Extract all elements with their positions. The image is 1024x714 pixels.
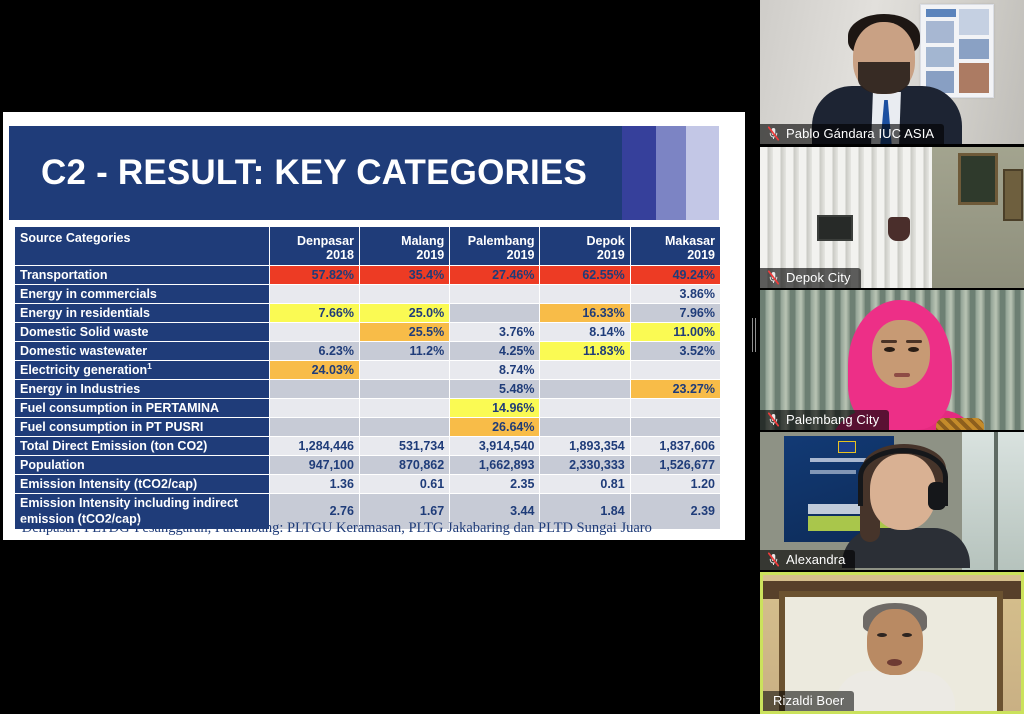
table-row: Population947,100870,8621,662,8932,330,3…	[15, 456, 720, 474]
column-header-palembang: Palembang 2019	[450, 227, 539, 265]
participant-name: Rizaldi Boer	[773, 693, 844, 708]
row-label: Energy in commercials	[15, 285, 269, 303]
row-label: Electricity generation1	[15, 361, 269, 379]
table-row: Domestic wastewater6.23%11.2%4.25%11.83%…	[15, 342, 720, 360]
table-cell: 3,914,540	[450, 437, 539, 455]
column-header-depok: Depok 2019	[540, 227, 629, 265]
table-cell: 1,526,677	[631, 456, 720, 474]
column-header-city: Depok	[587, 234, 625, 248]
microphone-muted-icon	[767, 412, 780, 427]
table-cell	[540, 285, 629, 303]
presentation-slide: C2 - RESULT: KEY CATEGORIES Source Categ…	[3, 112, 745, 540]
page-title: C2 - RESULT: KEY CATEGORIES	[9, 153, 587, 193]
table-cell: 1,662,893	[450, 456, 539, 474]
table-cell: 25.0%	[360, 304, 449, 322]
slide-title-bar: C2 - RESULT: KEY CATEGORIES	[9, 126, 739, 220]
participant-name-bar: Rizaldi Boer	[763, 691, 854, 711]
microphone-muted-icon	[767, 270, 780, 285]
column-header-city: Makasar	[665, 234, 715, 248]
table-cell: 0.81	[540, 475, 629, 493]
column-header-year: 2018	[275, 248, 354, 262]
column-header-year: 2019	[545, 248, 624, 262]
table-cell: 11.2%	[360, 342, 449, 360]
participant-name: Depok City	[786, 270, 851, 285]
table-cell: 6.23%	[270, 342, 359, 360]
table-cell	[270, 285, 359, 303]
column-header-malang: Malang 2019	[360, 227, 449, 265]
participant-name: Pablo Gándara IUC ASIA	[786, 126, 934, 141]
title-stripe-2	[656, 126, 686, 220]
table-cell	[450, 304, 539, 322]
drag-handle-icon[interactable]	[752, 318, 757, 352]
participant-name-bar: Depok City	[760, 268, 861, 288]
table-cell: 1,837,606	[631, 437, 720, 455]
column-header-city: Denpasar	[297, 234, 354, 248]
table-cell: 11.00%	[631, 323, 720, 341]
column-header-source-categories: Source Categories	[15, 227, 269, 265]
footnote-text: Denpasar: PLTDG-Pesanggaran, Palembang: …	[22, 520, 652, 536]
table-cell: 947,100	[270, 456, 359, 474]
video-scene	[760, 0, 1024, 144]
participant-name-bar: Pablo Gándara IUC ASIA	[760, 124, 944, 144]
table-cell: 25.5%	[360, 323, 449, 341]
table-cell	[540, 399, 629, 417]
table-cell	[450, 285, 539, 303]
row-label: Total Direct Emission (ton CO2)	[15, 437, 269, 455]
participant-tile[interactable]: Pablo Gándara IUC ASIA	[760, 0, 1024, 144]
table-cell: 1.36	[270, 475, 359, 493]
table-row: Energy in commercials3.86%	[15, 285, 720, 303]
column-header-year: 2019	[365, 248, 444, 262]
meeting-screen: C2 - RESULT: KEY CATEGORIES Source Categ…	[0, 0, 1024, 714]
participant-tile[interactable]: Alexandra	[760, 432, 1024, 570]
table-cell: 49.24%	[631, 266, 720, 284]
table-cell: 1.20	[631, 475, 720, 493]
slide-title-block: C2 - RESULT: KEY CATEGORIES	[9, 126, 622, 220]
table-cell	[360, 285, 449, 303]
table-row: Fuel consumption in PT PUSRI26.64%	[15, 418, 720, 436]
slide-footnote: 1Denpasar: PLTDG-Pesanggaran, Palembang:…	[17, 519, 727, 537]
table-cell: 8.74%	[450, 361, 539, 379]
column-header-year: 2019	[636, 248, 715, 262]
table-cell: 23.27%	[631, 380, 720, 398]
table-cell	[270, 323, 359, 341]
table-cell	[270, 418, 359, 436]
table-body: Transportation57.82%35.4%27.46%62.55%49.…	[15, 266, 720, 529]
title-stripe-3	[686, 126, 719, 220]
table-cell	[631, 418, 720, 436]
table-row: Transportation57.82%35.4%27.46%62.55%49.…	[15, 266, 720, 284]
row-label: Domestic Solid waste	[15, 323, 269, 341]
column-header-denpasar: Denpasar 2018	[270, 227, 359, 265]
participant-tile-active-speaker[interactable]: Rizaldi Boer	[760, 572, 1024, 714]
table-cell: 27.46%	[450, 266, 539, 284]
table-row: Energy in Industries5.48%23.27%	[15, 380, 720, 398]
table-cell: 57.82%	[270, 266, 359, 284]
table-cell: 8.14%	[540, 323, 629, 341]
row-label: Domestic wastewater	[15, 342, 269, 360]
participant-filmstrip[interactable]: Pablo Gándara IUC ASIA	[760, 0, 1024, 714]
table-cell	[540, 380, 629, 398]
table-cell	[360, 418, 449, 436]
table-cell: 24.03%	[270, 361, 359, 379]
column-header-makasar: Makasar 2019	[631, 227, 720, 265]
row-label: Transportation	[15, 266, 269, 284]
column-header-city: Palembang	[468, 234, 535, 248]
row-label: Fuel consumption in PT PUSRI	[15, 418, 269, 436]
table-cell: 14.96%	[450, 399, 539, 417]
video-scene	[760, 147, 1024, 288]
table-cell: 1,893,354	[540, 437, 629, 455]
table-cell: 870,862	[360, 456, 449, 474]
table-cell	[360, 380, 449, 398]
table-cell: 62.55%	[540, 266, 629, 284]
participant-name-bar: Alexandra	[760, 550, 855, 570]
row-label: Energy in Industries	[15, 380, 269, 398]
row-label: Population	[15, 456, 269, 474]
table-cell: 5.48%	[450, 380, 539, 398]
shared-screen-region[interactable]: C2 - RESULT: KEY CATEGORIES Source Categ…	[0, 0, 748, 714]
table-cell	[360, 399, 449, 417]
microphone-muted-icon	[767, 552, 780, 567]
participant-video	[760, 290, 1024, 430]
participant-video	[760, 147, 1024, 288]
table-cell	[540, 361, 629, 379]
table-row: Energy in residentials7.66%25.0%16.33%7.…	[15, 304, 720, 322]
table-cell: 26.64%	[450, 418, 539, 436]
table-cell: 3.86%	[631, 285, 720, 303]
table-cell	[540, 418, 629, 436]
table-cell: 3.52%	[631, 342, 720, 360]
table-cell	[360, 361, 449, 379]
panel-divider[interactable]	[748, 0, 760, 714]
table-row: Fuel consumption in PERTAMINA14.96%	[15, 399, 720, 417]
title-stripe-1	[622, 126, 656, 220]
microphone-muted-icon	[767, 126, 780, 141]
row-label: Energy in residentials	[15, 304, 269, 322]
table-row: Emission Intensity (tCO2/cap)1.360.612.3…	[15, 475, 720, 493]
row-label-superscript: 1	[147, 361, 152, 371]
participant-name: Alexandra	[786, 552, 845, 567]
table-cell: 7.96%	[631, 304, 720, 322]
table-cell	[631, 399, 720, 417]
table-cell: 2.35	[450, 475, 539, 493]
table-cell	[270, 399, 359, 417]
row-label: Emission Intensity (tCO2/cap)	[15, 475, 269, 493]
table-cell: 7.66%	[270, 304, 359, 322]
table-cell: 3.76%	[450, 323, 539, 341]
table-row: Domestic Solid waste25.5%3.76%8.14%11.00…	[15, 323, 720, 341]
column-header-city: Malang	[401, 234, 444, 248]
video-scene	[760, 290, 1024, 430]
title-stripe-4	[719, 126, 739, 220]
key-categories-table-wrap: Source Categories Denpasar 2018 Malang 2…	[14, 226, 721, 530]
table-cell: 11.83%	[540, 342, 629, 360]
table-header: Source Categories Denpasar 2018 Malang 2…	[15, 227, 720, 265]
participant-name-bar: Palembang City	[760, 410, 889, 430]
table-cell: 35.4%	[360, 266, 449, 284]
table-row: Total Direct Emission (ton CO2)1,284,446…	[15, 437, 720, 455]
table-header-row: Source Categories Denpasar 2018 Malang 2…	[15, 227, 720, 265]
table-cell: 531,734	[360, 437, 449, 455]
participant-tile[interactable]: Palembang City	[760, 290, 1024, 430]
key-categories-table: Source Categories Denpasar 2018 Malang 2…	[14, 226, 721, 530]
table-row: Electricity generation124.03%8.74%	[15, 361, 720, 379]
participant-video	[760, 0, 1024, 144]
participant-name: Palembang City	[786, 412, 879, 427]
table-cell	[631, 361, 720, 379]
participant-tile[interactable]: Depok City	[760, 147, 1024, 288]
table-cell: 2,330,333	[540, 456, 629, 474]
table-cell: 1,284,446	[270, 437, 359, 455]
table-cell: 0.61	[360, 475, 449, 493]
table-cell	[270, 380, 359, 398]
table-cell: 16.33%	[540, 304, 629, 322]
table-cell: 4.25%	[450, 342, 539, 360]
row-label: Fuel consumption in PERTAMINA	[15, 399, 269, 417]
column-header-year: 2019	[455, 248, 534, 262]
